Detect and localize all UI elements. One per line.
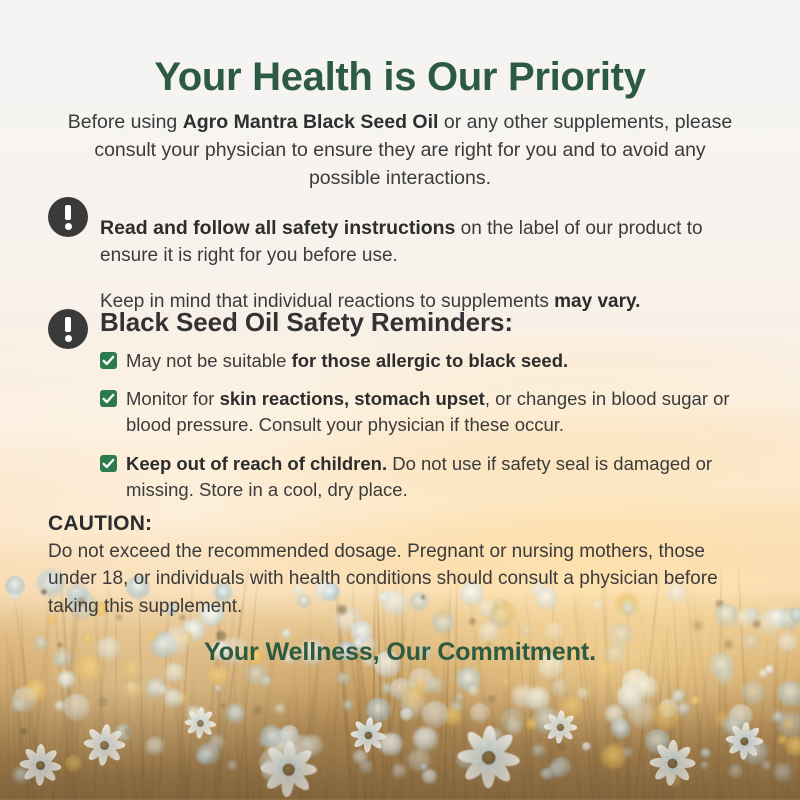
- list-item-text: Monitor for: [126, 388, 220, 409]
- list-item-emphasis: Keep out of reach of children.: [126, 453, 387, 474]
- list-item-emphasis: skin reactions, stomach upset: [220, 388, 485, 409]
- list-item: Monitor for skin reactions, stomach upse…: [100, 386, 756, 439]
- safety-instructions-lead: Read and follow all safety instructions: [100, 217, 455, 239]
- exclamation-bar: [65, 317, 71, 332]
- section-heading: Black Seed Oil Safety Reminders:: [100, 308, 756, 338]
- caution-heading: CAUTION:: [48, 512, 756, 536]
- safety-instructions-text: Read and follow all safety instructions …: [100, 215, 756, 270]
- intro-paragraph: Before using Agro Mantra Black Seed Oil …: [56, 108, 744, 193]
- poster-content: Your Health is Our Priority Before using…: [0, 0, 800, 800]
- page-title: Your Health is Our Priority: [0, 55, 800, 99]
- caution-block: CAUTION: Do not exceed the recommended d…: [48, 512, 756, 620]
- safety-reminders-block: Black Seed Oil Safety Reminders: May not…: [48, 308, 756, 503]
- safety-reminders-list: May not be suitable for those allergic t…: [100, 348, 756, 503]
- intro-text-before: Before using: [68, 111, 183, 133]
- exclamation-circle-icon: [48, 197, 88, 237]
- exclamation-dot: [65, 223, 72, 230]
- poster-canvas: Your Health is Our Priority Before using…: [0, 0, 800, 800]
- safety-instructions-body: Read and follow all safety instructions …: [100, 215, 756, 316]
- list-item: May not be suitable for those allergic t…: [100, 348, 756, 374]
- caution-body-text: Do not exceed the recommended dosage. Pr…: [48, 538, 756, 620]
- safety-reminders-body: Black Seed Oil Safety Reminders: May not…: [100, 308, 756, 503]
- list-item: Keep out of reach of children. Do not us…: [100, 451, 756, 504]
- brand-name: Agro Mantra Black Seed Oil: [183, 111, 439, 133]
- checkbox-checked-icon: [100, 390, 117, 407]
- exclamation-bar: [65, 205, 71, 220]
- checkbox-checked-icon: [100, 352, 117, 369]
- list-item-emphasis: for those allergic to black seed.: [292, 350, 569, 371]
- list-item-text: May not be suitable: [126, 350, 292, 371]
- checkbox-checked-icon: [100, 455, 117, 472]
- exclamation-circle-icon: [48, 309, 88, 349]
- closing-tagline: Your Wellness, Our Commitment.: [0, 638, 800, 667]
- exclamation-dot: [65, 335, 72, 342]
